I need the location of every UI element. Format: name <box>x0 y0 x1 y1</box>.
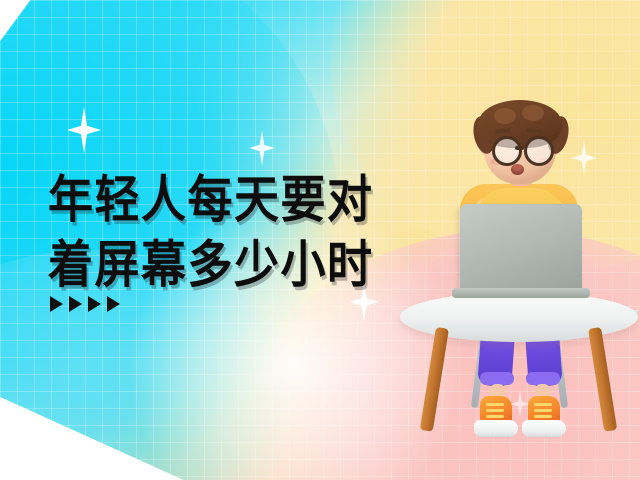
table-leg-left <box>420 327 449 432</box>
headline-block: 年轻人每天要对 着屏幕多少小时 <box>48 170 428 289</box>
arrow-marker-row <box>50 296 120 312</box>
right-sneaker-lace-mid <box>534 409 552 412</box>
corner-cut-bottom-left <box>0 396 188 480</box>
arrow-triangle-4 <box>107 296 120 312</box>
sparkle-top-left <box>67 107 101 153</box>
left-sneaker-lace-bottom <box>486 415 504 418</box>
arrow-triangle-2 <box>69 296 82 312</box>
left-sneaker-lace-mid <box>486 409 504 412</box>
laptop-base <box>452 288 590 298</box>
headline-line-1: 年轻人每天要对 <box>48 170 428 230</box>
poster-canvas: 年轻人每天要对 着屏幕多少小时 <box>0 0 640 480</box>
right-sneaker-lace-bottom <box>534 415 552 418</box>
mouth <box>511 164 524 175</box>
right-sneaker <box>522 396 566 438</box>
glasses-lens-left <box>492 136 522 166</box>
sparkle-mid-left <box>249 130 275 165</box>
right-sneaker-sole <box>522 420 566 437</box>
hair-curl-right <box>522 105 544 121</box>
glasses-lens-right <box>524 136 554 166</box>
laptop-screen <box>460 204 582 296</box>
table-leg-right <box>588 327 617 432</box>
left-sneaker-sole <box>474 420 518 437</box>
arrow-triangle-3 <box>88 296 101 312</box>
corner-cut-top-left <box>0 0 32 44</box>
hair-curl-left <box>494 108 516 124</box>
glasses-bridge <box>515 146 524 150</box>
left-sneaker <box>474 396 518 438</box>
arrow-triangle-1 <box>50 296 63 312</box>
headline-line-2: 着屏幕多少小时 <box>48 235 428 295</box>
illustration-person-at-desk <box>398 96 640 426</box>
left-sneaker-lace-top <box>486 403 504 406</box>
right-sneaker-lace-top <box>534 403 552 406</box>
